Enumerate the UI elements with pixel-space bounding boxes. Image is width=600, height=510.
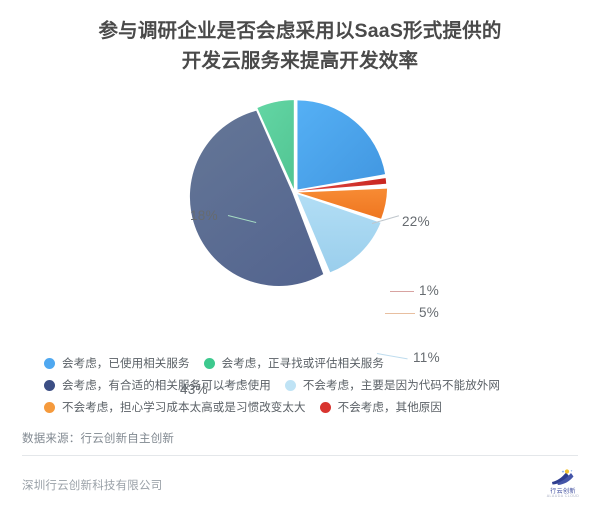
legend-item-would-consider-if-suitable[interactable]: 会考虑，有合适的相关服务可以考虑使用	[44, 377, 271, 393]
legend: 会考虑，已使用相关服务 会考虑，正寻找或评估相关服务 会考虑，有合适的相关服务可…	[0, 352, 600, 418]
legend-label: 不会考虑，主要是因为代码不能放外网	[303, 377, 500, 393]
pie-slice-22[interactable]	[297, 100, 385, 189]
pie-svg	[196, 90, 396, 290]
legend-swatch-icon	[44, 358, 55, 369]
legend-swatch-icon	[44, 402, 55, 413]
company-logo: 行云创新 ALAUDA CLOUD	[540, 468, 586, 502]
footer-divider	[22, 455, 578, 456]
legend-item-used-services[interactable]: 会考虑，已使用相关服务	[44, 355, 190, 371]
legend-swatch-icon	[204, 358, 215, 369]
legend-row-1: 会考虑，已使用相关服务 会考虑，正寻找或评估相关服务	[0, 352, 600, 374]
legend-label: 会考虑，已使用相关服务	[62, 355, 190, 371]
legend-swatch-icon	[285, 380, 296, 391]
legend-label: 不会考虑，其他原因	[338, 399, 442, 415]
legend-swatch-icon	[320, 402, 331, 413]
pie-label-5: 5%	[419, 305, 439, 320]
chart-title-line-1: 参与调研企业是否会虑采用以SaaS形式提供的	[36, 16, 564, 46]
legend-swatch-icon	[44, 380, 55, 391]
legend-label: 不会考虑，担心学习成本太高或是习惯改变太大	[62, 399, 306, 415]
chart-title: 参与调研企业是否会虑采用以SaaS形式提供的 开发云服务来提高开发效率	[0, 0, 600, 76]
legend-row-3: 不会考虑，担心学习成本太高或是习惯改变太大 不会考虑，其他原因	[0, 396, 600, 418]
company-name: 深圳行云创新科技有限公司	[22, 477, 162, 493]
legend-item-other-reasons[interactable]: 不会考虑，其他原因	[320, 399, 442, 415]
leader-line-5	[385, 313, 415, 314]
pie-label-18: 18%	[190, 208, 218, 223]
pie-chart: 22% 1% 5% 11% 43% 18%	[0, 82, 600, 337]
pie-label-1: 1%	[419, 283, 439, 298]
legend-item-evaluating-services[interactable]: 会考虑，正寻找或评估相关服务	[204, 355, 384, 371]
legend-label: 会考虑，正寻找或评估相关服务	[222, 355, 384, 371]
chart-title-line-2: 开发云服务来提高开发效率	[36, 46, 564, 76]
legend-label: 会考虑，有合适的相关服务可以考虑使用	[62, 377, 271, 393]
legend-item-learning-cost-concern[interactable]: 不会考虑，担心学习成本太高或是习惯改变太大	[44, 399, 306, 415]
legend-item-code-cannot-leave-network[interactable]: 不会考虑，主要是因为代码不能放外网	[285, 377, 500, 393]
company-row: 深圳行云创新科技有限公司 行云创新 ALAUDA CLOUD	[0, 468, 600, 502]
pie-label-22: 22%	[402, 214, 430, 229]
data-source-text: 数据来源：行云创新自主创新	[0, 430, 600, 446]
pie-graphic	[196, 90, 396, 290]
leader-line-1	[390, 291, 414, 292]
logo-en-text: ALAUDA CLOUD	[540, 494, 586, 498]
legend-row-2: 会考虑，有合适的相关服务可以考虑使用 不会考虑，主要是因为代码不能放外网	[0, 374, 600, 396]
logo-swoosh-icon	[549, 469, 577, 486]
source-block: 数据来源：行云创新自主创新	[0, 430, 600, 456]
